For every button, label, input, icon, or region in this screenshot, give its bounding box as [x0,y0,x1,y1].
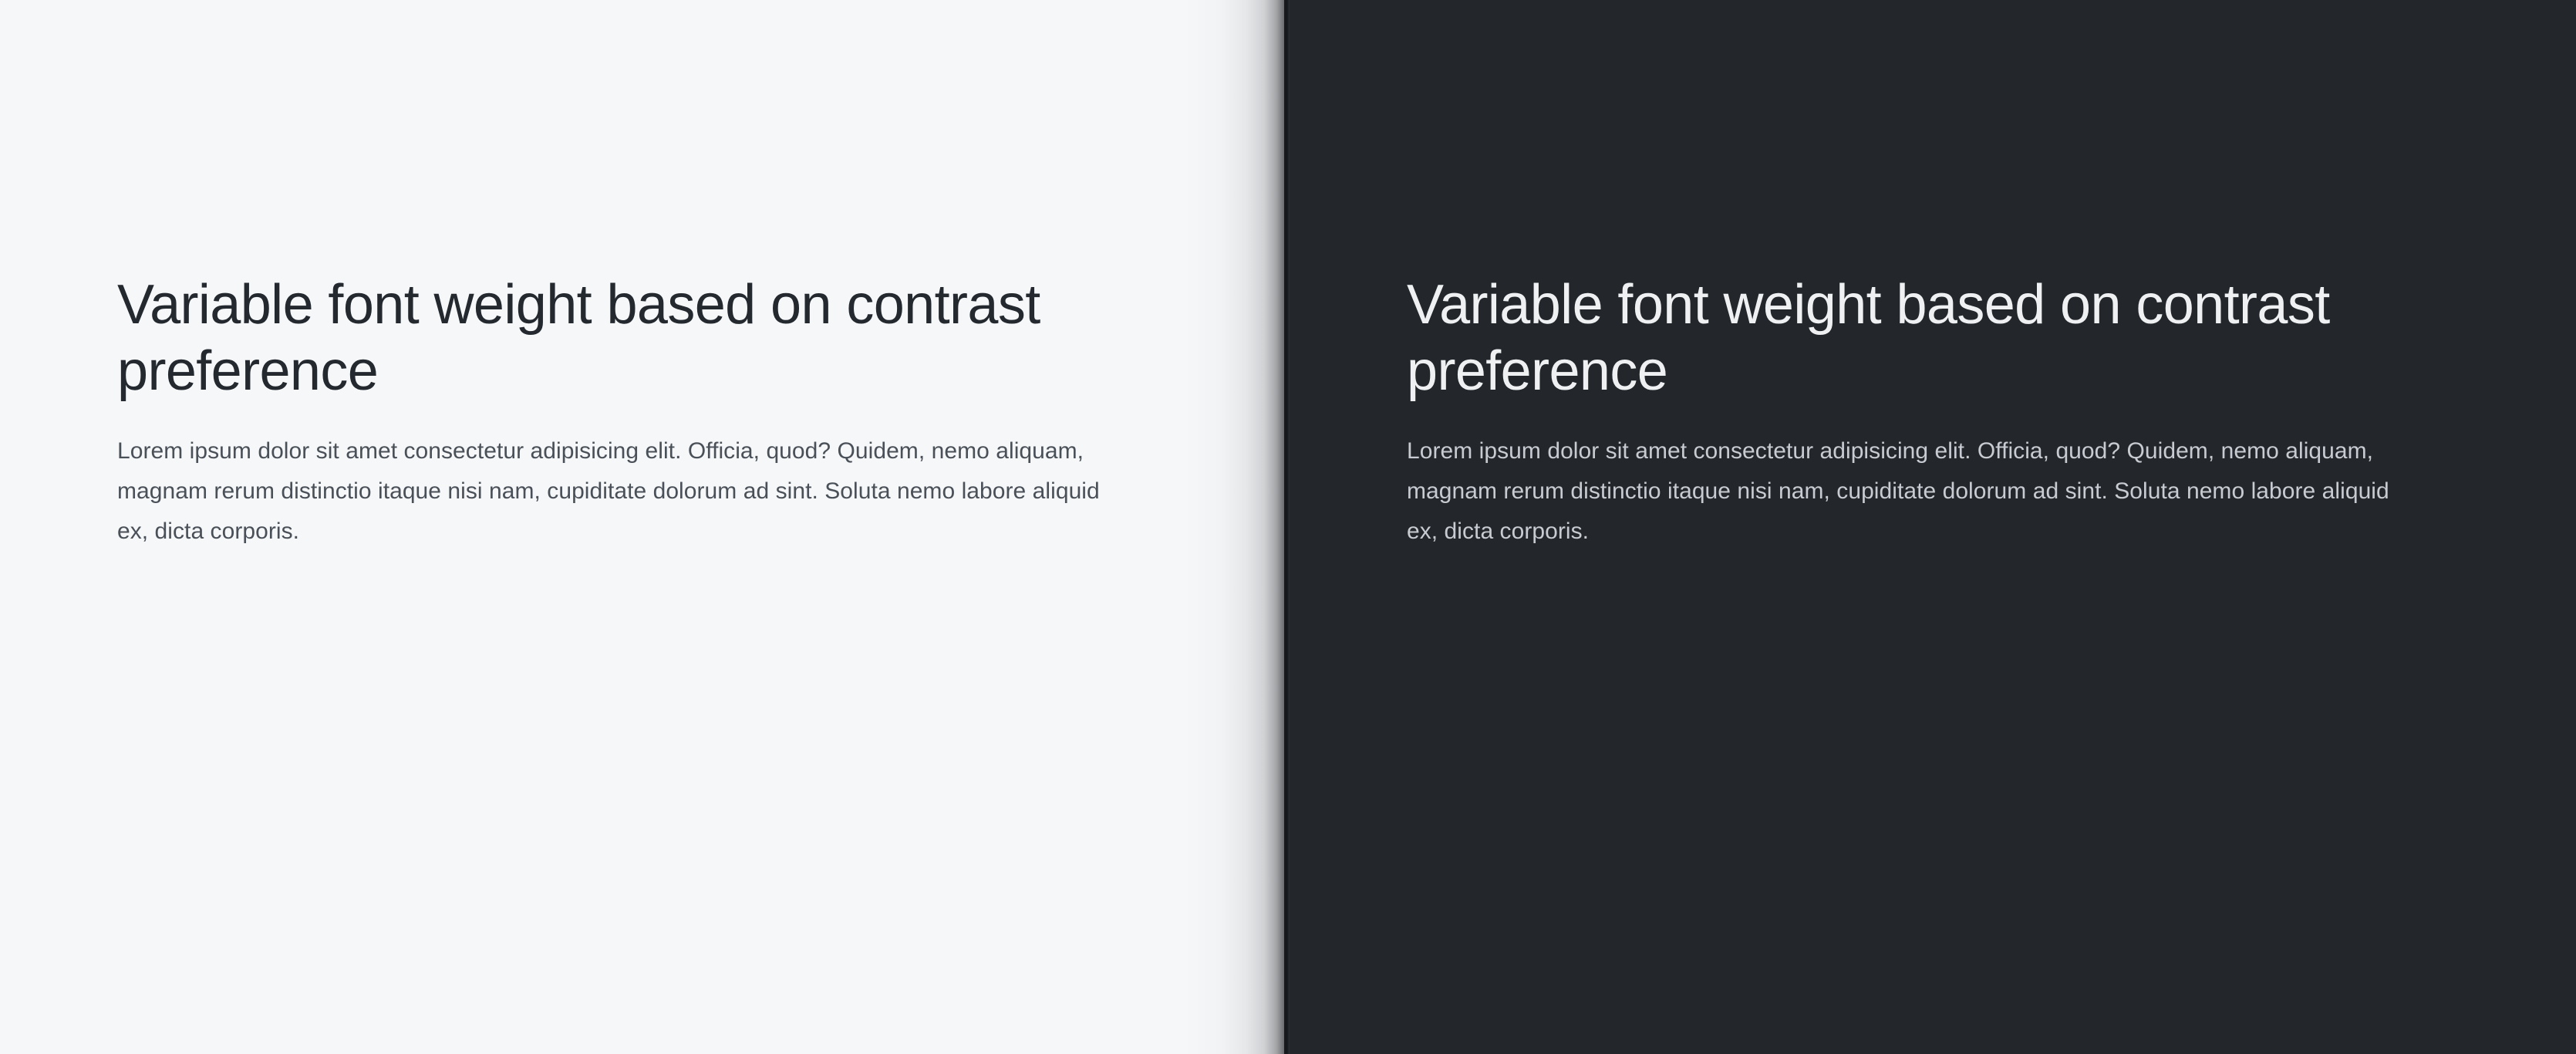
dark-theme-panel: Variable font weight based on contrast p… [1290,0,2576,1054]
light-theme-panel: Variable font weight based on contrast p… [0,0,1284,1054]
dark-panel-content: Variable font weight based on contrast p… [1407,272,2440,552]
split-comparison-stage: Variable font weight based on contrast p… [0,0,2576,1054]
page-title: Variable font weight based on contrast p… [117,272,1151,405]
body-paragraph: Lorem ipsum dolor sit amet consectetur a… [1407,405,2425,552]
light-panel-content: Variable font weight based on contrast p… [117,272,1151,552]
body-paragraph: Lorem ipsum dolor sit amet consectetur a… [117,405,1135,552]
panel-divider [1284,0,1290,1054]
page-title: Variable font weight based on contrast p… [1407,272,2440,405]
